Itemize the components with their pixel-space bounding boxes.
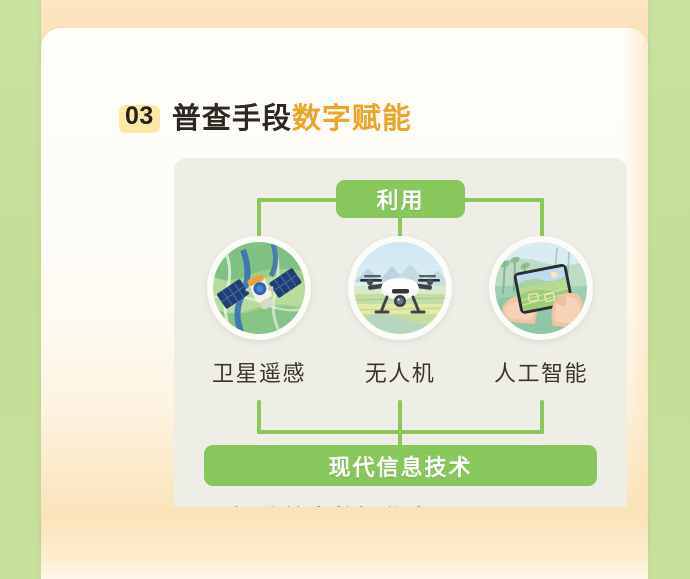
diagram-bottom-node-label: 现代信息技术 [328, 450, 472, 482]
diagram-item-2-circle[interactable] [348, 236, 452, 340]
diagram-top-node-label: 利用 [376, 183, 424, 215]
diagram-top-node: 利用 [336, 180, 465, 218]
connector-bottom-middle-branch [398, 400, 402, 446]
next-section-card [41, 507, 648, 579]
diagram-bottom-node: 现代信息技术 [204, 445, 597, 486]
page-title: 03 普查手段 数字赋能 [119, 96, 412, 136]
section-card: 03 普查手段 数字赋能 利用 [41, 28, 648, 551]
drone-icon [354, 242, 446, 334]
section-number-badge: 03 [119, 101, 160, 131]
diagram-item-1-label: 卫星遥感 [179, 356, 339, 388]
connector-bottom-right-branch [540, 400, 544, 434]
connector-bottom-left-branch [257, 400, 261, 434]
diagram-item-3-circle[interactable] [489, 236, 593, 340]
satellite-remote-sensing-icon [213, 242, 305, 334]
diagram-item-2-label: 无人机 [320, 356, 480, 388]
section-title-accent: 数字赋能 [292, 95, 412, 137]
diagram-item-1-circle[interactable] [207, 236, 311, 340]
diagram-item-3-label: 人工智能 [461, 356, 621, 388]
artificial-intelligence-tablet-icon [495, 242, 587, 334]
section-title-primary: 普查手段 [172, 95, 292, 137]
section-number: 03 [125, 102, 154, 131]
